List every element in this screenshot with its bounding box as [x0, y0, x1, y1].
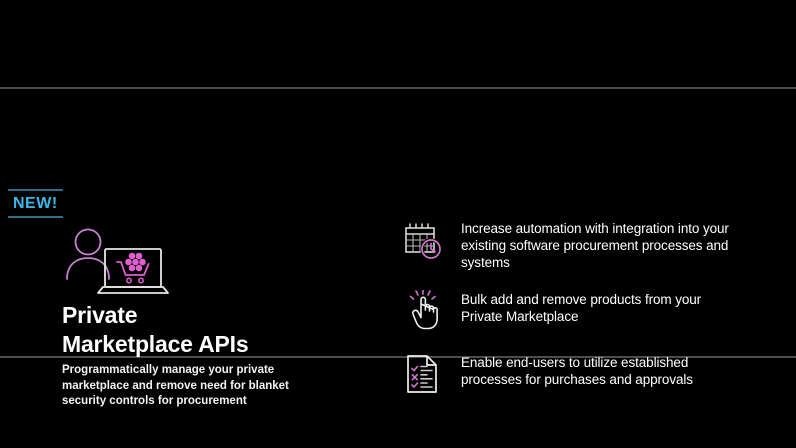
list-item: Enable end-users to utilize established … — [403, 353, 743, 395]
list-item-label: Enable end-users to utilize established … — [461, 353, 743, 388]
list-item-label: Increase automation with integration int… — [461, 219, 743, 271]
page-title-line2: Marketplace APIs — [62, 330, 352, 359]
content-band: NEW! — [0, 89, 796, 356]
page-title: Private Marketplace APIs — [62, 301, 352, 359]
document-checklist-icon — [403, 353, 443, 395]
page-title-line1: Private — [62, 301, 352, 330]
slide-root: NEW! — [0, 0, 796, 448]
new-badge: NEW! — [8, 189, 63, 218]
calendar-clock-icon — [403, 219, 443, 261]
feature-list: Increase automation with integration int… — [403, 219, 743, 415]
new-badge-label: NEW! — [8, 191, 63, 216]
click-hand-icon — [403, 290, 443, 332]
page-description: Programmatically manage your private mar… — [62, 363, 317, 410]
badge-rule-bottom — [8, 216, 63, 218]
list-item: Bulk add and remove products from your P… — [403, 290, 743, 332]
person-with-laptop-shopping-cart-icon — [62, 227, 177, 297]
list-item-label: Bulk add and remove products from your P… — [461, 290, 743, 325]
list-item: Increase automation with integration int… — [403, 219, 743, 271]
